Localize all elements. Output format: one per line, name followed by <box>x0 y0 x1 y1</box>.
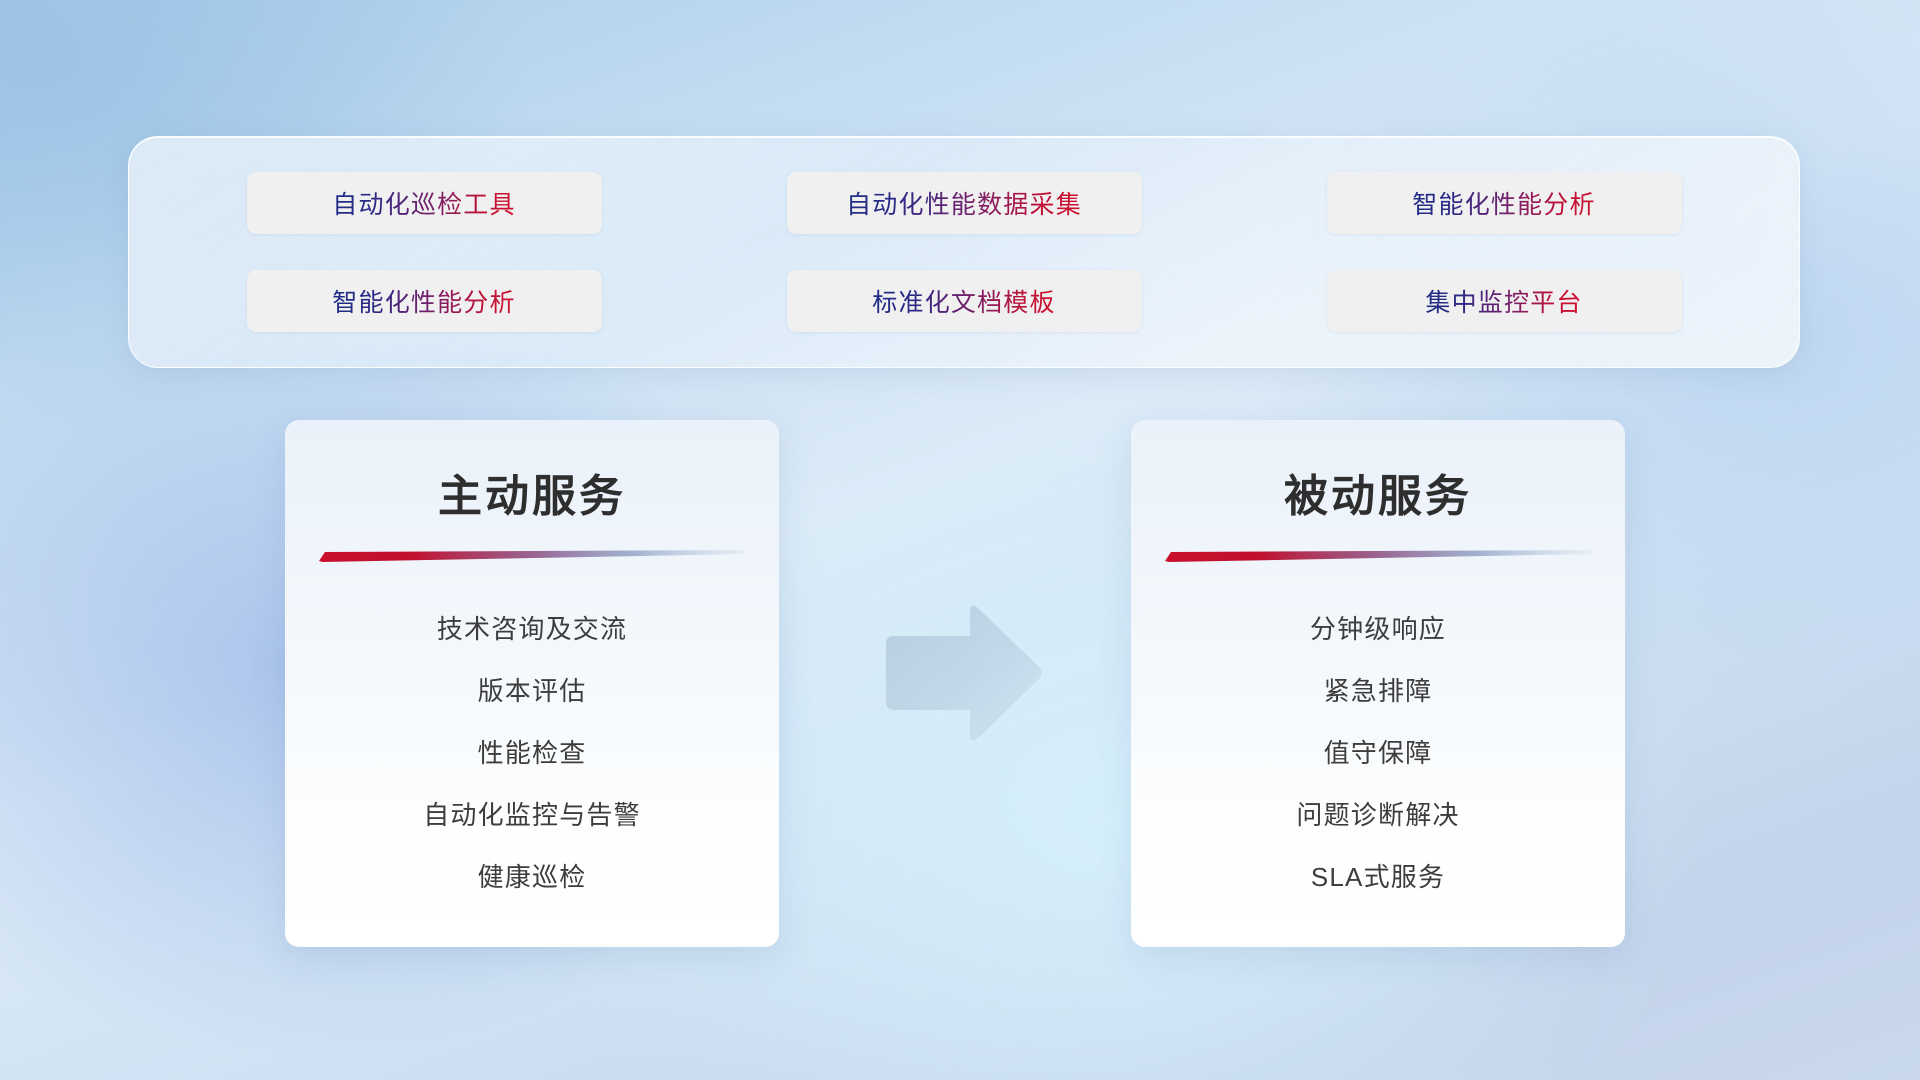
title-divider <box>1165 550 1591 562</box>
capability-tag-label: 自动化性能数据采集 <box>846 185 1082 221</box>
service-list-item[interactable]: 紧急排障 <box>1131 660 1625 722</box>
capability-tag[interactable]: 自动化巡检工具 <box>247 172 602 234</box>
capability-tag[interactable]: 集中监控平台 <box>1327 270 1682 332</box>
service-list-item[interactable]: 自动化监控与告警 <box>285 784 779 846</box>
capability-tag-label: 智能化性能分析 <box>1412 185 1595 221</box>
capability-tag[interactable]: 智能化性能分析 <box>1327 172 1682 234</box>
service-list-item[interactable]: 性能检查 <box>285 722 779 784</box>
service-list-item[interactable]: 技术咨询及交流 <box>285 598 779 660</box>
capability-tag-label: 自动化巡检工具 <box>332 185 515 221</box>
service-list-item[interactable]: 版本评估 <box>285 660 779 722</box>
service-list-item[interactable]: SLA式服务 <box>1131 846 1625 908</box>
service-card-title: 主动服务 <box>285 460 779 524</box>
arrow-right-icon <box>878 598 1048 748</box>
service-item-list: 技术咨询及交流 版本评估 性能检查 自动化监控与告警 健康巡检 <box>285 598 779 908</box>
slide-canvas: 自动化巡检工具 自动化性能数据采集 智能化性能分析 智能化性能分析 标准化文档模… <box>0 0 1920 1080</box>
capability-tag[interactable]: 智能化性能分析 <box>247 270 602 332</box>
capability-tag-label: 集中监控平台 <box>1425 283 1582 319</box>
capability-tag-label: 标准化文档模板 <box>872 283 1055 319</box>
service-list-item[interactable]: 分钟级响应 <box>1131 598 1625 660</box>
capability-tag[interactable]: 标准化文档模板 <box>787 270 1142 332</box>
capability-tag-label: 智能化性能分析 <box>332 283 515 319</box>
service-item-list: 分钟级响应 紧急排障 值守保障 问题诊断解决 SLA式服务 <box>1131 598 1625 908</box>
service-card-passive[interactable]: 被动服务 分钟级响应 紧急排障 值守保障 问题诊断解决 <box>1131 420 1625 947</box>
service-card-active[interactable]: 主动服务 技术咨询及交流 版本评估 性能检查 自动化监控与告警 <box>285 420 779 947</box>
capability-tag[interactable]: 自动化性能数据采集 <box>787 172 1142 234</box>
service-list-item[interactable]: 健康巡检 <box>285 846 779 908</box>
service-list-item[interactable]: 值守保障 <box>1131 722 1625 784</box>
service-list-item[interactable]: 问题诊断解决 <box>1131 784 1625 846</box>
capability-tags-panel: 自动化巡检工具 自动化性能数据采集 智能化性能分析 智能化性能分析 标准化文档模… <box>128 136 1800 368</box>
title-divider <box>319 550 745 562</box>
service-card-title: 被动服务 <box>1131 460 1625 524</box>
